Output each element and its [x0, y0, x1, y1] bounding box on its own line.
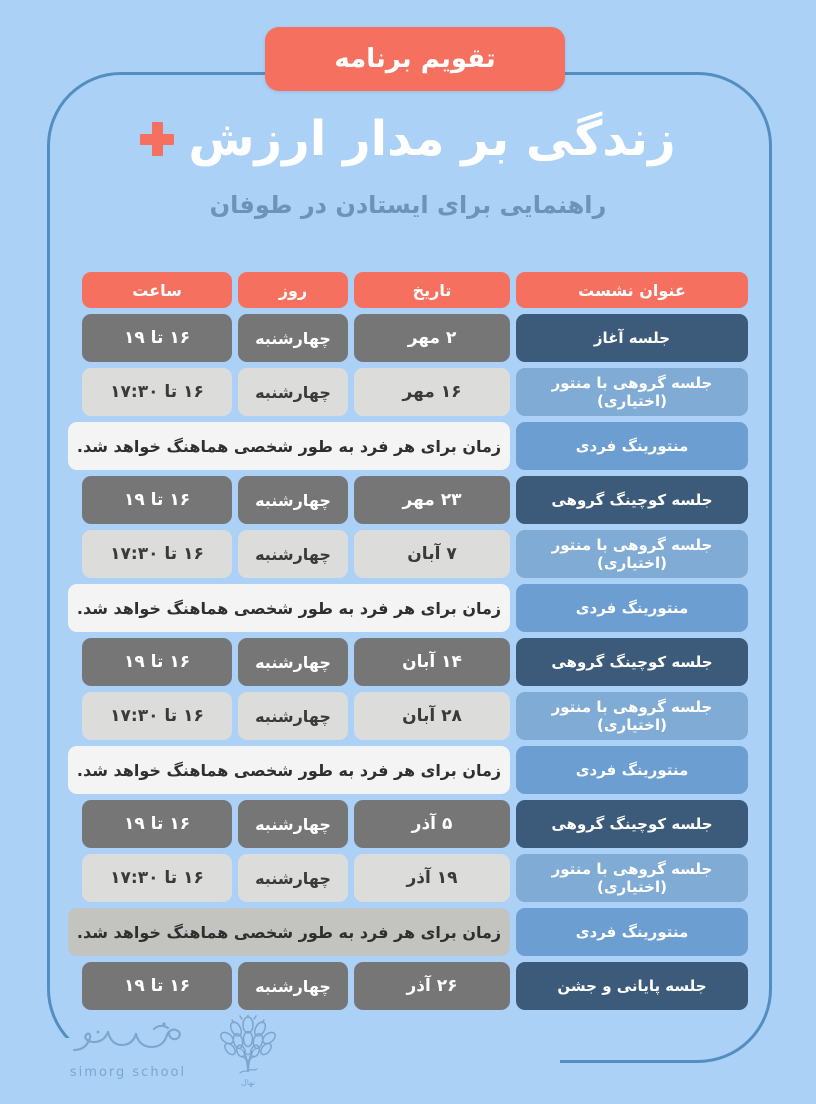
- column-header-time: ساعت: [82, 272, 232, 308]
- session-title-cell: جلسه گروهی با منتور (اختیاری): [516, 368, 748, 416]
- table-row: جلسه کوچینگ گروهی ۱۴ آبان چهارشنبه ۱۶ تا…: [68, 638, 748, 686]
- session-day-cell: چهارشنبه: [238, 530, 348, 578]
- session-title-cell: جلسه گروهی با منتور (اختیاری): [516, 530, 748, 578]
- session-title-cell: جلسه کوچینگ گروهی: [516, 638, 748, 686]
- session-title-cell: جلسه کوچینگ گروهی: [516, 800, 748, 848]
- calendar-title-badge-label: تقویم برنامه: [334, 44, 495, 74]
- session-day-cell: چهارشنبه: [238, 476, 348, 524]
- session-date-cell: ۲۶ آذر: [354, 962, 510, 1010]
- session-note-cell: زمان برای هر فرد به طور شخصی هماهنگ خواه…: [68, 746, 510, 794]
- session-day-cell: چهارشنبه: [238, 692, 348, 740]
- table-row: جلسه کوچینگ گروهی ۵ آذر چهارشنبه ۱۶ تا ۱…: [68, 800, 748, 848]
- session-time-cell: ۱۶ تا ۱۷:۳۰: [82, 854, 232, 902]
- column-header-title: عنوان نشست: [516, 272, 748, 308]
- session-title-cell: جلسه گروهی با منتور (اختیاری): [516, 692, 748, 740]
- session-title-cell: منتورینگ فردی: [516, 746, 748, 794]
- session-time-cell: ۱۶ تا ۱۹: [82, 476, 232, 524]
- table-row: جلسه پایانی و جشن ۲۶ آذر چهارشنبه ۱۶ تا …: [68, 962, 748, 1010]
- session-title-cell: منتورینگ فردی: [516, 584, 748, 632]
- main-title-text: زندگی بر مدار ارزش: [188, 110, 675, 169]
- session-date-cell: ۲۳ مهر: [354, 476, 510, 524]
- session-day-cell: چهارشنبه: [238, 314, 348, 362]
- session-date-cell: ۱۶ مهر: [354, 368, 510, 416]
- simorg-latin-label: simorg school: [70, 1065, 186, 1080]
- table-row: جلسه آغاز ۲ مهر چهارشنبه ۱۶ تا ۱۹: [68, 314, 748, 362]
- table-row: جلسه گروهی با منتور (اختیاری) ۱۹ آذر چها…: [68, 854, 748, 902]
- page-subtitle: راهنمایی برای ایستادن در طوفان: [0, 191, 816, 219]
- tree-logo: نهال: [214, 1015, 282, 1087]
- session-title-cell: منتورینگ فردی: [516, 422, 748, 470]
- session-note-cell: زمان برای هر فرد به طور شخصی هماهنگ خواه…: [68, 908, 510, 956]
- session-time-cell: ۱۶ تا ۱۷:۳۰: [82, 368, 232, 416]
- calendar-title-badge: تقویم برنامه: [265, 27, 565, 91]
- session-time-cell: ۱۶ تا ۱۹: [82, 314, 232, 362]
- session-note-cell: زمان برای هر فرد به طور شخصی هماهنگ خواه…: [68, 422, 510, 470]
- table-row: جلسه کوچینگ گروهی ۲۳ مهر چهارشنبه ۱۶ تا …: [68, 476, 748, 524]
- plus-icon: [140, 122, 174, 156]
- session-date-cell: ۱۹ آذر: [354, 854, 510, 902]
- session-date-cell: ۲ مهر: [354, 314, 510, 362]
- table-row: جلسه گروهی با منتور (اختیاری) ۱۶ مهر چها…: [68, 368, 748, 416]
- session-title-cell: جلسه گروهی با منتور (اختیاری): [516, 854, 748, 902]
- column-header-day: روز: [238, 272, 348, 308]
- tree-icon: [214, 1015, 282, 1077]
- table-header-row: عنوان نشست تاریخ روز ساعت: [68, 272, 748, 308]
- session-time-cell: ۱۶ تا ۱۷:۳۰: [82, 530, 232, 578]
- footer-logos: simorg school: [68, 1016, 282, 1086]
- session-day-cell: چهارشنبه: [238, 800, 348, 848]
- session-day-cell: چهارشنبه: [238, 962, 348, 1010]
- table-row: منتورینگ فردی زمان برای هر فرد به طور شخ…: [68, 584, 748, 632]
- session-day-cell: چهارشنبه: [238, 638, 348, 686]
- table-row: منتورینگ فردی زمان برای هر فرد به طور شخ…: [68, 746, 748, 794]
- session-title-cell: جلسه پایانی و جشن: [516, 962, 748, 1010]
- session-time-cell: ۱۶ تا ۱۹: [82, 638, 232, 686]
- page-title: زندگی بر مدار ارزش: [140, 110, 675, 169]
- session-time-cell: ۱۶ تا ۱۹: [82, 962, 232, 1010]
- session-title-cell: منتورینگ فردی: [516, 908, 748, 956]
- session-title-cell: جلسه کوچینگ گروهی: [516, 476, 748, 524]
- session-date-cell: ۷ آبان: [354, 530, 510, 578]
- session-time-cell: ۱۶ تا ۱۹: [82, 800, 232, 848]
- table-row: جلسه گروهی با منتور (اختیاری) ۲۸ آبان چه…: [68, 692, 748, 740]
- session-note-cell: زمان برای هر فرد به طور شخصی هماهنگ خواه…: [68, 584, 510, 632]
- session-day-cell: چهارشنبه: [238, 368, 348, 416]
- session-day-cell: چهارشنبه: [238, 854, 348, 902]
- simorg-calligraphy-icon: [68, 1020, 188, 1064]
- column-header-date: تاریخ: [354, 272, 510, 308]
- title-block: زندگی بر مدار ارزش راهنمایی برای ایستادن…: [0, 110, 816, 219]
- simorg-school-logo: simorg school: [68, 1022, 188, 1080]
- tree-logo-caption: نهال: [241, 1078, 255, 1087]
- session-title-cell: جلسه آغاز: [516, 314, 748, 362]
- table-row: منتورینگ فردی زمان برای هر فرد به طور شخ…: [68, 908, 748, 956]
- session-date-cell: ۱۴ آبان: [354, 638, 510, 686]
- table-row: جلسه گروهی با منتور (اختیاری) ۷ آبان چها…: [68, 530, 748, 578]
- session-time-cell: ۱۶ تا ۱۷:۳۰: [82, 692, 232, 740]
- session-date-cell: ۲۸ آبان: [354, 692, 510, 740]
- table-row: منتورینگ فردی زمان برای هر فرد به طور شخ…: [68, 422, 748, 470]
- session-date-cell: ۵ آذر: [354, 800, 510, 848]
- schedule-table: عنوان نشست تاریخ روز ساعت جلسه آغاز ۲ مه…: [68, 272, 748, 1010]
